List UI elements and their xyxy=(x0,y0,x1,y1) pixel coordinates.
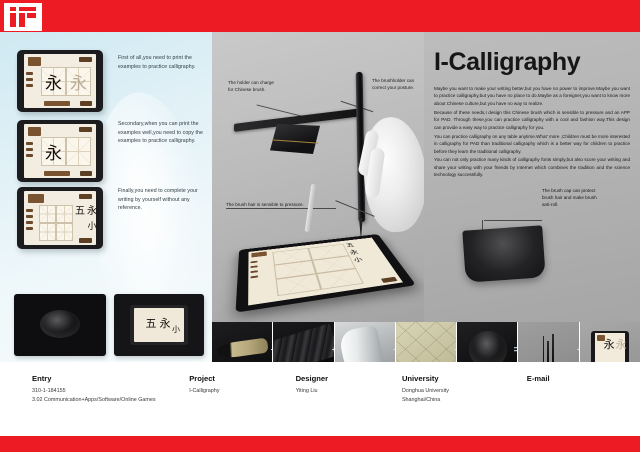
panel-app-steps: 永 永 xyxy=(0,32,212,362)
page-title: I-Calligraphy xyxy=(434,48,630,77)
description-p2: Because of these needs,I design this Chi… xyxy=(434,109,630,131)
photo-ink-dish xyxy=(14,294,106,356)
header-bar xyxy=(0,0,640,32)
footer-university-location: Shanghai/China xyxy=(402,396,527,405)
tablet-screen: 永 永 xyxy=(24,54,96,108)
equals-icon xyxy=(514,346,517,354)
callout-brush-cap: The brush cap can protect brush hair and… xyxy=(542,187,604,208)
leader-line-cap xyxy=(484,220,542,221)
footer-designer: Designer Yiting Liu xyxy=(296,374,402,436)
callout-posture: The brushholder can correct your posture… xyxy=(372,78,420,92)
tablet-screen: 五 永 小 xyxy=(24,191,96,245)
tablet-screen: 永 xyxy=(24,124,96,178)
glyph-pad-solid: 永 xyxy=(603,335,615,353)
footer-entry-code: 310-1-184155 xyxy=(32,387,189,396)
mini-tablet: 五 永 小 xyxy=(130,305,188,345)
plus-icon: + xyxy=(332,346,334,354)
footer-project-label: Project xyxy=(189,374,295,383)
footer-university: University Donghua University Shanghai/C… xyxy=(402,374,527,436)
footer-project: Project I-Calligraphy xyxy=(189,374,295,436)
description-p4: You can not only practice many kinds of … xyxy=(434,156,630,178)
panel-description: I-Calligraphy Maybe you want to make you… xyxy=(424,32,640,362)
plus-icon: + xyxy=(577,346,579,354)
if-design-poster: 永 永 xyxy=(0,0,640,452)
glyph-pad-faint: 永 xyxy=(615,335,627,353)
plus-icon: + xyxy=(393,346,395,354)
glyph-faint: 永 xyxy=(67,68,90,95)
footer-entry-label: Entry xyxy=(32,374,189,383)
glyph-solid: 永 xyxy=(42,68,65,95)
photo-ink-tablet: 五 永 小 xyxy=(114,294,204,356)
panel-product-render: The holder can charge for Chinese brush.… xyxy=(212,32,424,362)
glyph-row-1: 永 xyxy=(86,203,96,215)
description-p1: Maybe you want to make your writing bett… xyxy=(434,85,630,107)
step-text-1: First of all,you need to print the examp… xyxy=(118,54,204,71)
glyph-solid: 永 xyxy=(42,138,65,165)
glyph-mini-0: 五 xyxy=(144,312,158,334)
glyph-row-0: 五 xyxy=(74,203,86,215)
description-text: Maybe you want to make your writing bett… xyxy=(434,85,630,179)
footer-red-bar xyxy=(0,436,640,452)
brush-holder-render xyxy=(234,110,362,158)
tablet-mockup-step2: 永 xyxy=(17,120,103,182)
glyph-row-2: 小 xyxy=(86,219,96,231)
poster-body: 永 永 xyxy=(0,32,640,362)
tablet-large-render: 五 永 小 xyxy=(236,234,417,313)
footer-project-value: I-Calligraphy xyxy=(189,387,295,396)
brush-cap-render xyxy=(462,225,545,282)
mini-tablet-screen: 五 永 小 xyxy=(134,308,184,342)
description-p3: You can practice calligraphy on any tabl… xyxy=(434,133,630,155)
glyph-mini-2: 小 xyxy=(170,320,182,338)
step-text-2: Secondary,when you can print the example… xyxy=(118,120,204,146)
pad-screen: 永 永 xyxy=(595,333,624,365)
footer-email-label: E-mail xyxy=(527,374,610,383)
footer-email: E-mail xyxy=(527,374,610,436)
footer-entry: Entry 310-1-184155 3.02 Communication+Ap… xyxy=(32,374,189,436)
footer-designer-value: Yiting Liu xyxy=(296,387,402,396)
ink-stone-shape xyxy=(40,310,80,338)
leader-line-hair xyxy=(226,208,336,209)
if-logo xyxy=(4,3,42,31)
footer-credits: Entry 310-1-184155 3.02 Communication+Ap… xyxy=(0,362,640,436)
tablet-mockup-step3: 五 永 小 xyxy=(17,187,103,249)
footer-university-label: University xyxy=(402,374,527,383)
step-text-3: Finally,you need to complete your writin… xyxy=(118,187,204,213)
tablet-mockup-step1: 永 永 xyxy=(17,50,103,112)
plus-icon: + xyxy=(454,346,456,354)
footer-designer-label: Designer xyxy=(296,374,402,383)
glyph-big-2: 小 xyxy=(352,255,364,263)
footer-entry-category: 3.02 Communication+Apps/Software/Online … xyxy=(32,396,189,405)
callout-holder: The holder can charge for Chinese brush. xyxy=(228,80,280,94)
plus-icon: + xyxy=(271,346,273,354)
if-logo-icon xyxy=(10,7,36,27)
tablet-large-screen: 五 永 小 xyxy=(248,238,403,306)
footer-university-value: Donghua University xyxy=(402,387,527,396)
